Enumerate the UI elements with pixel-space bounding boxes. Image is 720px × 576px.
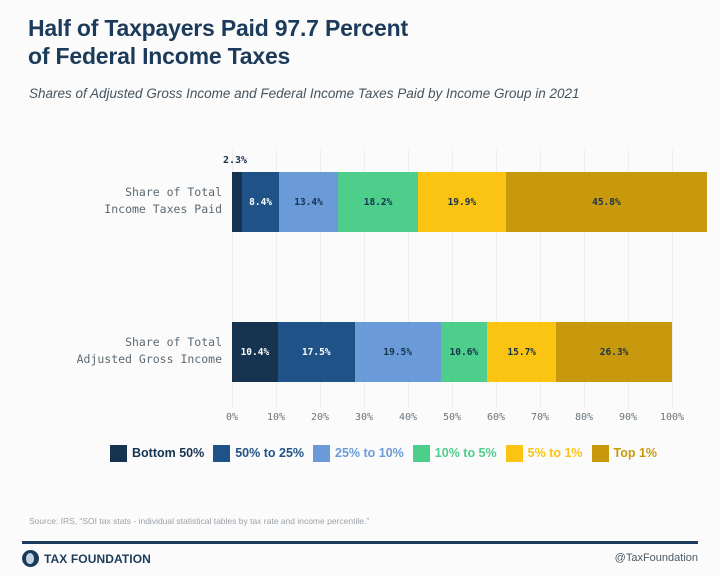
legend-item[interactable]: 5% to 1% (506, 445, 583, 462)
legend-swatch (413, 445, 430, 462)
legend-swatch (506, 445, 523, 462)
legend-item[interactable]: 10% to 5% (413, 445, 497, 462)
category-label: Share of TotalIncome Taxes Paid (36, 184, 222, 219)
x-axis-tick-label: 0% (226, 412, 238, 423)
category-label-line: Share of Total (36, 184, 222, 201)
tax-foundation-logo: TAX FOUNDATION (22, 550, 151, 567)
bar-segment[interactable]: 8.4% (242, 172, 279, 232)
bar-segment[interactable]: 10.4% (232, 322, 278, 382)
chart-subtitle: Shares of Adjusted Gross Income and Fede… (29, 84, 669, 103)
bar-row: 10.4%17.5%19.5%10.6%15.7%26.3% (232, 322, 672, 382)
x-axis-tick-label: 90% (619, 412, 637, 423)
x-axis-tick-label: 80% (575, 412, 593, 423)
chart-legend: Bottom 50%50% to 25%25% to 10%10% to 5%5… (110, 440, 696, 466)
tax-foundation-logo-icon (22, 550, 39, 567)
plot-area: 8.4%13.4%18.2%19.9%45.8%2.3%10.4%17.5%19… (232, 150, 672, 408)
x-axis-tick-label: 10% (267, 412, 285, 423)
social-handle: @TaxFoundation (615, 552, 698, 564)
category-label-line: Adjusted Gross Income (36, 351, 222, 368)
x-axis-tick-label: 70% (531, 412, 549, 423)
category-label-line: Income Taxes Paid (36, 201, 222, 218)
x-axis-tick-label: 50% (443, 412, 461, 423)
legend-swatch (110, 445, 127, 462)
bar-segment[interactable]: 19.5% (355, 322, 441, 382)
bar-segment[interactable]: 19.9% (418, 172, 506, 232)
bar-segment[interactable]: 45.8% (506, 172, 708, 232)
stacked-bar: 10.4%17.5%19.5%10.6%15.7%26.3% (232, 322, 672, 382)
bar-segment[interactable]: 17.5% (278, 322, 355, 382)
bar-segment-label-outside: 2.3% (223, 155, 247, 166)
source-note: Source: IRS, “SOI tax stats - individual… (29, 516, 369, 526)
legend-item[interactable]: Top 1% (592, 445, 658, 462)
x-axis-tick-label: 30% (355, 412, 373, 423)
x-axis-tick-label: 60% (487, 412, 505, 423)
legend-swatch (313, 445, 330, 462)
legend-label: 25% to 10% (335, 446, 404, 460)
legend-label: Bottom 50% (132, 446, 204, 460)
legend-label: Top 1% (614, 446, 658, 460)
bar-segment[interactable] (232, 172, 242, 232)
title-line-2: of Federal Income Taxes (28, 42, 628, 70)
chart-canvas: Half of Taxpayers Paid 97.7 Percent of F… (0, 0, 720, 576)
stacked-bar: 8.4%13.4%18.2%19.9%45.8% (232, 172, 707, 232)
footer: TAX FOUNDATION @TaxFoundation (22, 548, 698, 572)
tax-foundation-logo-text: TAX FOUNDATION (44, 552, 151, 566)
legend-swatch (592, 445, 609, 462)
x-axis-tick-label: 40% (399, 412, 417, 423)
bar-segment[interactable]: 13.4% (279, 172, 338, 232)
page-title: Half of Taxpayers Paid 97.7 Percent of F… (28, 14, 628, 70)
bar-segment[interactable]: 26.3% (556, 322, 672, 382)
category-label: Share of TotalAdjusted Gross Income (36, 334, 222, 369)
legend-label: 5% to 1% (528, 446, 583, 460)
bar-row: 8.4%13.4%18.2%19.9%45.8% (232, 172, 672, 232)
legend-item[interactable]: Bottom 50% (110, 445, 204, 462)
x-axis-tick-label: 100% (660, 412, 684, 423)
legend-swatch (213, 445, 230, 462)
legend-item[interactable]: 25% to 10% (313, 445, 404, 462)
bar-segment[interactable]: 10.6% (441, 322, 488, 382)
bar-segment[interactable]: 18.2% (338, 172, 418, 232)
legend-label: 50% to 25% (235, 446, 304, 460)
footer-divider (22, 541, 698, 544)
legend-item[interactable]: 50% to 25% (213, 445, 304, 462)
bar-segment[interactable]: 15.7% (487, 322, 556, 382)
legend-label: 10% to 5% (435, 446, 497, 460)
category-label-line: Share of Total (36, 334, 222, 351)
x-axis-tick-label: 20% (311, 412, 329, 423)
title-line-1: Half of Taxpayers Paid 97.7 Percent (28, 15, 408, 41)
